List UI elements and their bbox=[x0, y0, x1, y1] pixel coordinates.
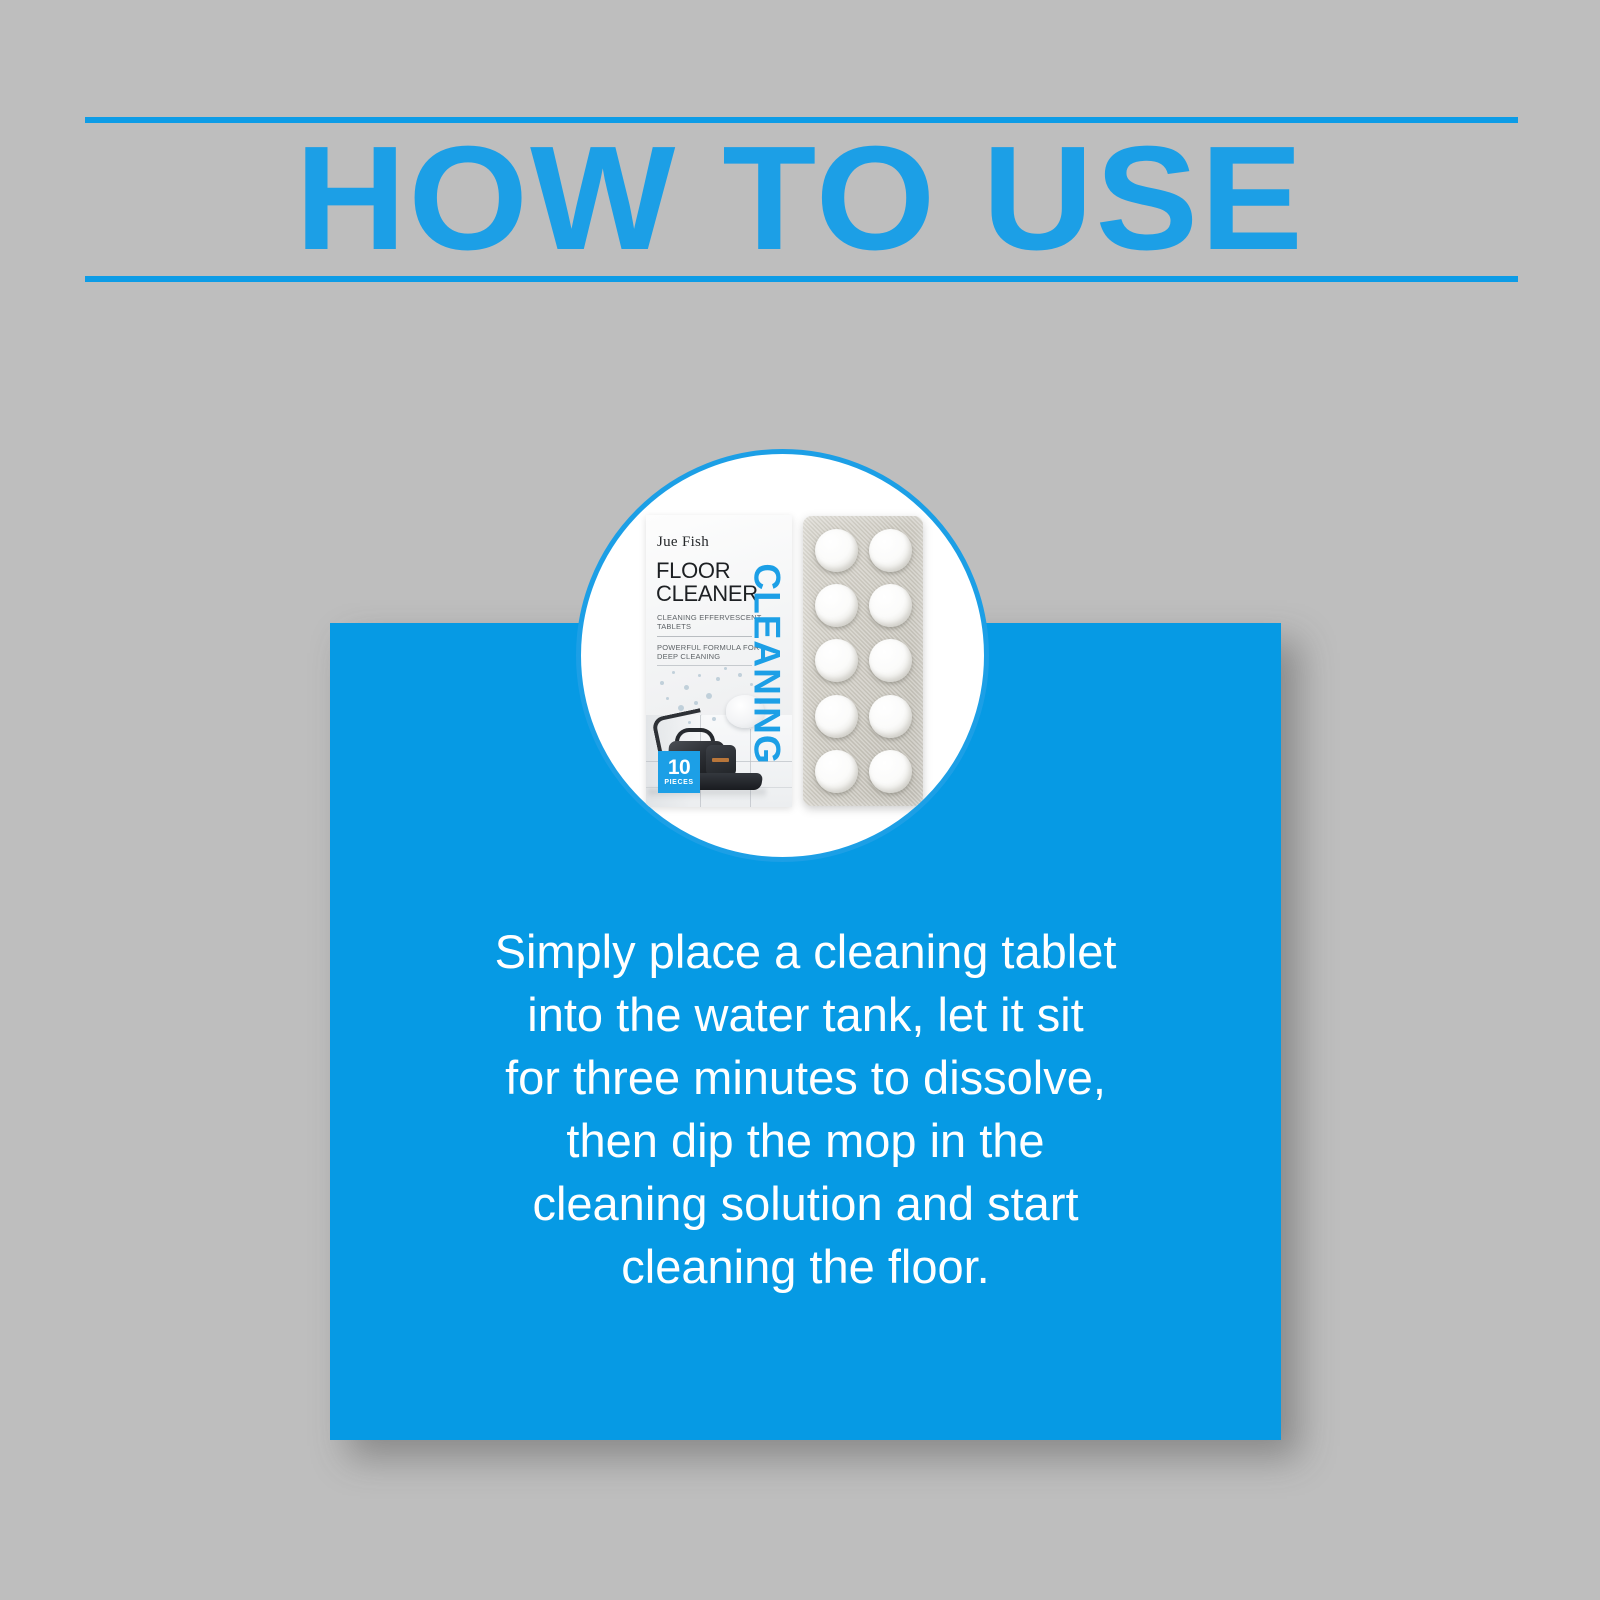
carton-count-number: 10 bbox=[668, 757, 690, 778]
carton-count-label: PIECES bbox=[664, 778, 693, 787]
tablet bbox=[869, 750, 912, 793]
tablet bbox=[869, 529, 912, 572]
carton-divider-2 bbox=[657, 665, 752, 666]
product-image-circle: Jue Fish FLOOR CLEANER CLEANING EFFERVES… bbox=[576, 449, 989, 862]
blister-tablet-grid bbox=[811, 525, 915, 797]
tablet bbox=[869, 584, 912, 627]
page-title: HOW TO USE bbox=[0, 124, 1600, 274]
carton-count-badge: 10 PIECES bbox=[658, 751, 700, 793]
tablet bbox=[869, 639, 912, 682]
product-carton: Jue Fish FLOOR CLEANER CLEANING EFFERVES… bbox=[646, 515, 792, 807]
tablet bbox=[815, 529, 858, 572]
tablet bbox=[869, 695, 912, 738]
tablet bbox=[815, 584, 858, 627]
carton-product-name-line2: CLEANER bbox=[656, 582, 758, 605]
tablet bbox=[815, 639, 858, 682]
tablet bbox=[815, 750, 858, 793]
carton-divider-1 bbox=[657, 636, 752, 637]
carton-vertical-word: CLEANING bbox=[746, 523, 788, 799]
carton-brand: Jue Fish bbox=[657, 534, 709, 551]
carton-product-name: FLOOR CLEANER bbox=[656, 559, 758, 605]
tablet bbox=[815, 695, 858, 738]
carton-vertical-word-text: CLEANING bbox=[746, 563, 788, 764]
carton-product-name-line1: FLOOR bbox=[656, 559, 758, 582]
blister-pack bbox=[803, 516, 923, 806]
poster-canvas: HOW TO USE Simply place a cleaning table… bbox=[0, 0, 1600, 1600]
product-photo: Jue Fish FLOOR CLEANER CLEANING EFFERVES… bbox=[581, 454, 984, 857]
instructions-text: Simply place a cleaning tablet into the … bbox=[330, 920, 1281, 1298]
